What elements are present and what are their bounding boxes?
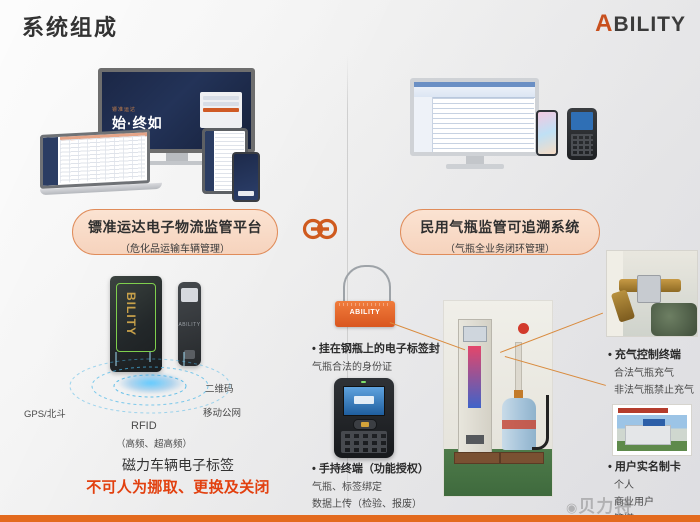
card-header-text xyxy=(618,408,668,413)
bullet-line: 非法气瓶禁止充气 xyxy=(608,381,694,396)
management-screen xyxy=(410,78,539,156)
lpg-cylinder xyxy=(502,398,536,450)
watermark-icon: ◉ xyxy=(566,500,578,515)
watermark-text: 贝力特 xyxy=(578,497,632,516)
card-building xyxy=(625,425,671,445)
slide-canvas: 系统组成 ABILITY 镖准运达 始·终如 xyxy=(0,0,700,522)
cylinder-top xyxy=(651,303,697,336)
label-gps-beidou: GPS/北斗 xyxy=(24,406,66,420)
gas-filling-station-photo xyxy=(443,300,553,497)
bullet-line: 个人 xyxy=(608,476,681,491)
pda-body xyxy=(567,108,597,160)
app-sidebar-graphic xyxy=(43,137,58,186)
bullet-filling-control-terminal: 充气控制终端 合法气瓶充气 非法气瓶禁止充气 xyxy=(608,346,694,396)
pipe-valve-knob xyxy=(518,323,529,334)
label-mobile-network: 移动公网 xyxy=(203,405,241,419)
logo-text: BILITY xyxy=(614,13,687,36)
phone-button-graphic xyxy=(238,191,254,196)
terminal-navpad xyxy=(353,419,377,430)
cylinder-label-band xyxy=(502,420,536,429)
management-monitor-mockup xyxy=(410,78,539,170)
right-system-title-pill[interactable]: 民用气瓶监管可追溯系统 （气瓶全业务闭环管理） xyxy=(400,209,600,255)
pda-terminal-mockup xyxy=(567,108,597,160)
smartphone-mockup xyxy=(536,110,558,158)
cabinet-banner xyxy=(468,346,481,408)
cabinet-keypad xyxy=(466,435,484,444)
reader-brand-label: ABILITY xyxy=(178,322,201,328)
user-id-card-photo xyxy=(612,404,692,456)
terminal-led xyxy=(361,381,366,383)
login-submit xyxy=(203,108,239,112)
cabinet-display xyxy=(463,326,487,342)
smartphone-screen xyxy=(536,110,558,156)
terminal-navpad-center xyxy=(361,422,369,427)
label-qr-code: 二维码 xyxy=(205,381,234,395)
login-field xyxy=(203,96,239,100)
filling-hose xyxy=(532,395,549,450)
login-field xyxy=(203,102,239,106)
page-title: 系统组成 xyxy=(22,10,118,42)
scale-platform-left xyxy=(454,452,500,464)
brand-logo: ABILITY xyxy=(595,12,686,36)
bullet-handheld-terminal: 手持终端（功能授权） 气瓶、标签绑定 数据上传（检验、报废） 车辆标签与气瓶数量… xyxy=(312,460,429,522)
bullet-line: 气瓶、标签绑定 xyxy=(312,478,429,493)
monitor-neck xyxy=(166,153,188,161)
pda-screen xyxy=(571,112,593,130)
terminal-window-graphic xyxy=(354,396,374,404)
left-system-title-pill[interactable]: 镖准运达电子物流监管平台 （危化品运输车辆管理） xyxy=(72,209,278,255)
right-system-title: 民用气瓶监管可追溯系统 xyxy=(401,217,599,237)
filling-pipe xyxy=(515,342,522,392)
seal-body: ABILITY xyxy=(335,301,395,327)
app-table-graphic xyxy=(60,135,145,182)
handheld-terminal-photo xyxy=(334,378,394,458)
filling-nozzle-photo xyxy=(606,250,698,337)
app-sidebar-graphic xyxy=(205,131,214,191)
tamper-warning-text: 不可人为挪取、更换及关闭 xyxy=(49,476,307,497)
monitor-neck xyxy=(466,156,484,164)
card-photo-image xyxy=(617,415,687,451)
data-table-graphic xyxy=(433,98,534,151)
laptop-mockup xyxy=(40,132,162,198)
bullet-electronic-seal: 挂在钢瓶上的电子标签封 气瓶合法的身份证 xyxy=(312,340,440,373)
phone-screen xyxy=(232,152,260,202)
seal-ridges xyxy=(339,303,391,306)
bullet-title: 充气控制终端 xyxy=(608,346,694,362)
tree-panel-graphic xyxy=(414,97,433,152)
scale-platform-right xyxy=(500,452,544,464)
bullet-title: 手持终端（功能授权） xyxy=(312,460,429,476)
right-system-subtitle: （气瓶全业务闭环管理） xyxy=(401,240,599,255)
chain-link-icon xyxy=(300,218,340,240)
watermark: ◉贝力特 xyxy=(566,492,632,517)
card-signage xyxy=(643,419,665,426)
bullet-line: 数据上传（检验、报废） xyxy=(312,495,429,510)
screen-login-box xyxy=(200,92,242,128)
terminal-screen xyxy=(343,386,385,416)
seal-brand-text: ABILITY xyxy=(335,309,395,316)
label-rfid: RFID xyxy=(131,420,157,432)
left-system-title: 镖准运达电子物流监管平台 xyxy=(73,217,277,237)
left-system-subtitle: （危化品运输车辆管理） xyxy=(73,240,277,255)
control-module xyxy=(637,275,661,303)
signal-glow-graphic xyxy=(118,372,184,394)
terminal-keypad xyxy=(341,431,387,453)
bullet-title: 用户实名制卡 xyxy=(608,458,681,474)
bullet-title: 挂在钢瓶上的电子标签封 xyxy=(312,340,440,356)
phone-mockup xyxy=(232,152,260,204)
reader-display xyxy=(181,288,198,302)
footer-accent-bar xyxy=(0,515,700,522)
pda-keypad xyxy=(571,134,593,156)
bullet-line: 气瓶合法的身份证 xyxy=(312,358,440,373)
screen-kicker: 镖准运达 xyxy=(112,106,163,113)
magnetic-tag-caption: 磁力车辆电子标签 xyxy=(63,455,293,475)
electronic-tag-seal: ABILITY xyxy=(335,265,395,327)
filling-control-cabinet xyxy=(458,319,492,461)
bullet-line: 合法气瓶充气 xyxy=(608,364,694,379)
laptop-screen xyxy=(40,129,150,189)
tag-brand-text: BILITY xyxy=(124,292,138,336)
monitor-base xyxy=(446,164,504,169)
label-frequency: （高频、超高频） xyxy=(116,436,192,450)
logo-a-mark: A xyxy=(595,10,613,37)
